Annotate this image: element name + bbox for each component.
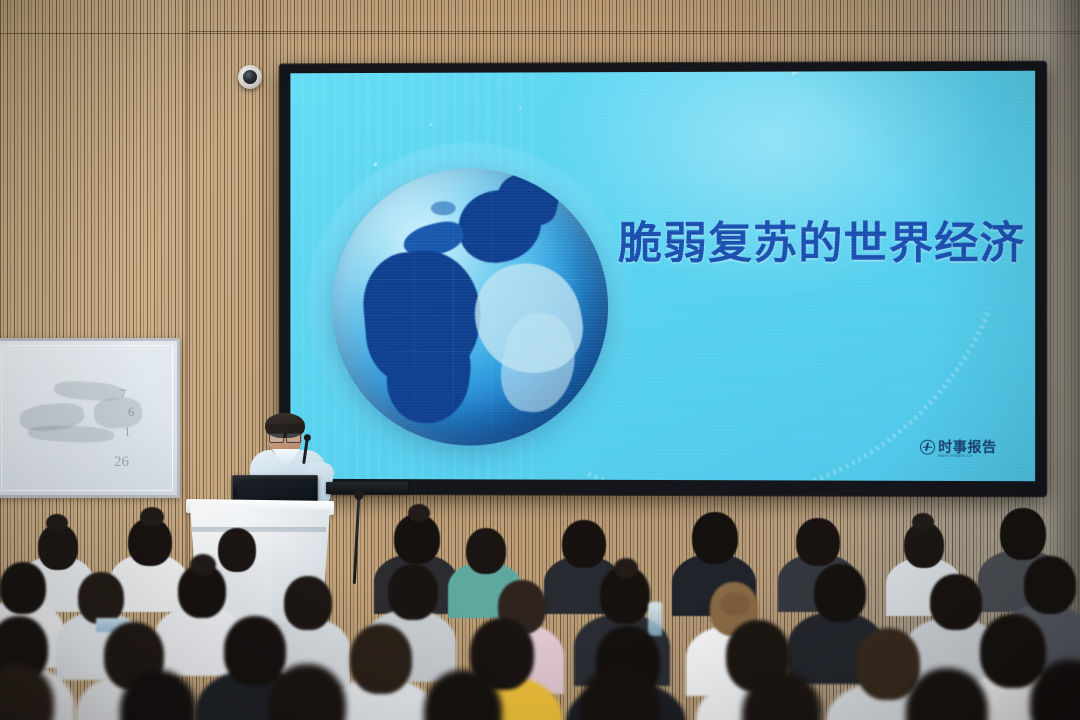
lecture-hall-photo: 7 6 1 26 (0, 0, 1080, 720)
audience-seating (0, 490, 1080, 720)
projection-screen: 脆弱复苏的世界经济 时事报告 www.ssbgzz.cn (290, 71, 1035, 482)
globe-sphere (332, 168, 608, 446)
globe-graphic (332, 168, 608, 446)
whiteboard-text: 7 (120, 386, 127, 402)
projection-screen-frame: 脆弱复苏的世界经济 时事报告 www.ssbgzz.cn (280, 62, 1047, 497)
whiteboard-surface: 7 6 1 26 (1, 345, 173, 491)
globe-emblem-icon (920, 440, 935, 455)
whiteboard: 7 6 1 26 (0, 338, 180, 498)
slide-title: 脆弱复苏的世界经济 (618, 222, 1020, 266)
slide-logo-url: www.ssbgzz.cn (938, 453, 972, 458)
whiteboard-text: 26 (114, 454, 129, 471)
whiteboard-text: 1 (124, 424, 131, 440)
whiteboard-erased-mark (28, 425, 115, 444)
globe-graticule (332, 168, 608, 446)
wall-panel-seam (0, 33, 1080, 34)
slide-logo: 时事报告 www.ssbgzz.cn (920, 440, 997, 455)
water-bottle (648, 602, 662, 636)
whiteboard-text: 6 (128, 404, 135, 420)
dome-security-camera-icon (238, 65, 262, 89)
whiteboard-erased-mark (93, 397, 143, 429)
wall-panel-seam (190, 31, 1080, 32)
